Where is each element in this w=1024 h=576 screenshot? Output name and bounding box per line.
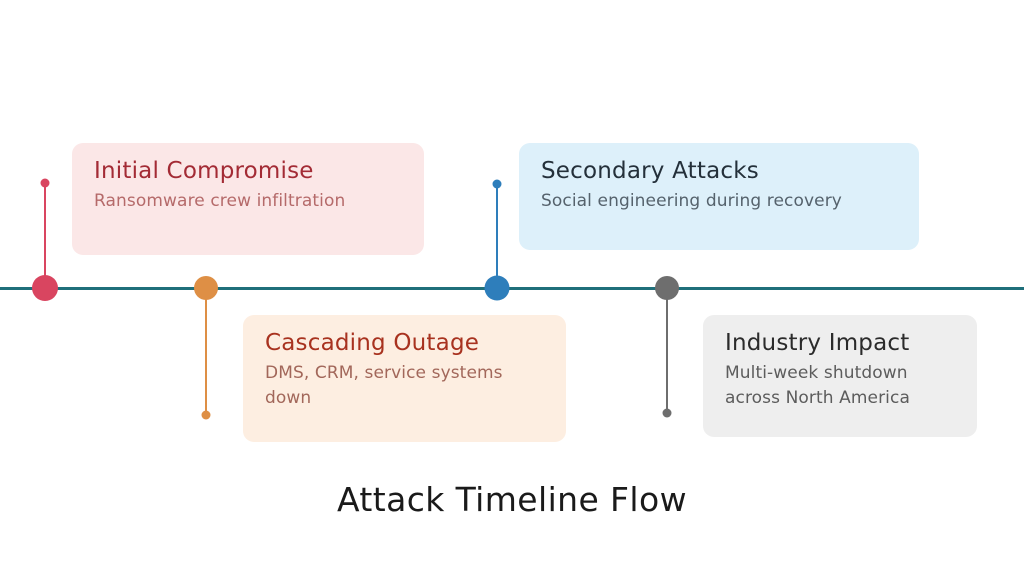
event-description-initial-compromise: Ransomware crew infiltration — [94, 189, 402, 213]
event-title-initial-compromise: Initial Compromise — [94, 157, 402, 186]
connector-stem-cascading-outage — [205, 288, 207, 415]
timeline-marker-initial-compromise[interactable] — [32, 275, 58, 301]
event-description-secondary-attacks: Social engineering during recovery — [541, 189, 897, 213]
connector-cap-industry-impact — [663, 409, 672, 418]
connector-cap-cascading-outage — [202, 411, 211, 420]
timeline-marker-industry-impact[interactable] — [655, 276, 679, 300]
timeline-marker-cascading-outage[interactable] — [194, 276, 218, 300]
event-card-secondary-attacks[interactable]: Secondary Attacks Social engineering dur… — [519, 143, 919, 250]
connector-stem-secondary-attacks — [496, 184, 498, 288]
event-description-industry-impact: Multi-week shutdown across North America — [725, 361, 955, 409]
event-card-initial-compromise[interactable]: Initial Compromise Ransomware crew infil… — [72, 143, 424, 255]
timeline-axis — [0, 287, 1024, 290]
event-title-secondary-attacks: Secondary Attacks — [541, 157, 897, 186]
figure-title: Attack Timeline Flow — [0, 480, 1024, 519]
timeline-figure: Initial Compromise Ransomware crew infil… — [0, 0, 1024, 576]
event-title-industry-impact: Industry Impact — [725, 329, 955, 358]
event-description-cascading-outage: DMS, CRM, service systems down — [265, 361, 544, 409]
timeline-marker-secondary-attacks[interactable] — [485, 276, 510, 301]
connector-stem-industry-impact — [666, 288, 668, 413]
connector-stem-initial-compromise — [44, 183, 46, 288]
event-card-industry-impact[interactable]: Industry Impact Multi-week shutdown acro… — [703, 315, 977, 437]
event-card-cascading-outage[interactable]: Cascading Outage DMS, CRM, service syste… — [243, 315, 566, 442]
connector-cap-initial-compromise — [41, 179, 50, 188]
connector-cap-secondary-attacks — [493, 180, 502, 189]
event-title-cascading-outage: Cascading Outage — [265, 329, 544, 358]
